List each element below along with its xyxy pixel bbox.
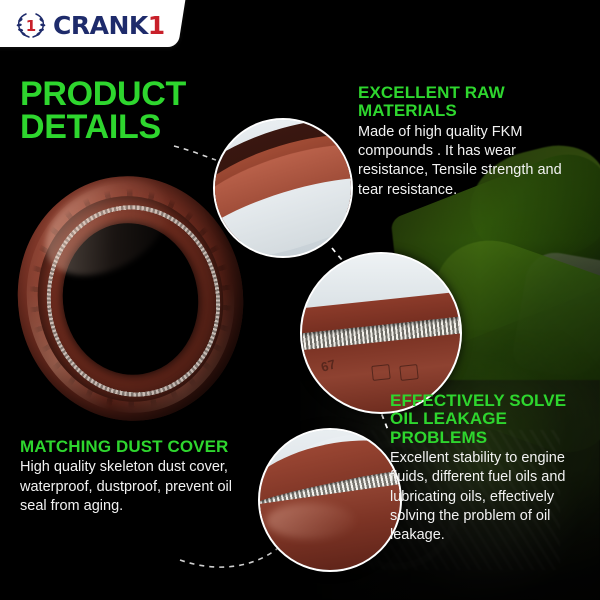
brand-wordmark: CRANK1 bbox=[53, 13, 165, 38]
laurel-wreath-icon: 1 bbox=[14, 10, 48, 40]
page-title-line-1: PRODUCT bbox=[20, 75, 186, 113]
seal-mold-mark-a bbox=[371, 364, 390, 381]
brand-accent-digit: 1 bbox=[148, 13, 165, 38]
callout-inner-bore bbox=[258, 428, 402, 572]
feature-raw-materials: EXCELLENT RAW MATERIALS Made of high qua… bbox=[358, 84, 590, 200]
seal-mold-mark-b bbox=[399, 364, 418, 381]
feature-dust-cover-body: High quality skeleton dust cover, waterp… bbox=[20, 458, 235, 516]
product-details-infographic: CRANK1 1 bbox=[0, 0, 600, 600]
product-oil-seal-image bbox=[18, 176, 243, 421]
svg-text:1: 1 bbox=[26, 17, 36, 35]
bore-callout-gloss bbox=[266, 503, 356, 539]
feature-dust-cover: MATCHING DUST COVER High quality skeleto… bbox=[20, 438, 235, 516]
brand-logo[interactable]: 1 CRANK1 bbox=[14, 10, 165, 40]
callout-seal-edge bbox=[213, 118, 353, 258]
feature-oil-leakage-heading: EFFECTIVELY SOLVE OIL LEAKAGE PROBLEMS bbox=[390, 392, 595, 447]
callout-garter-spring: 67 bbox=[300, 252, 462, 414]
feature-dust-cover-heading: MATCHING DUST COVER bbox=[20, 438, 235, 456]
feature-raw-materials-body: Made of high quality FKM compounds . It … bbox=[358, 123, 590, 200]
feature-raw-materials-heading: EXCELLENT RAW MATERIALS bbox=[358, 84, 590, 121]
feature-oil-leakage-body: Excellent stability to engine fluids, di… bbox=[390, 449, 595, 545]
feature-oil-leakage: EFFECTIVELY SOLVE OIL LEAKAGE PROBLEMS E… bbox=[390, 392, 595, 545]
brand-name: CRANK bbox=[53, 13, 148, 38]
